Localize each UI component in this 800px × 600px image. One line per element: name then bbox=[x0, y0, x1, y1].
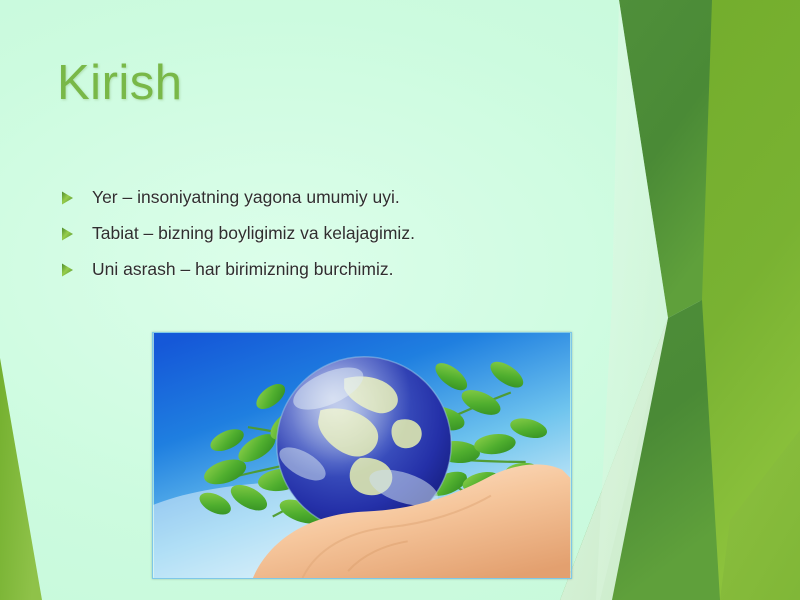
hand-holding-earth-with-leaves-image bbox=[152, 332, 572, 579]
shape-left-bottom-wedge bbox=[0, 358, 42, 600]
presentation-slide: Kirish Yer – insoniyatning yagona umumiy… bbox=[0, 0, 800, 600]
list-item-label: Tabiat – bizning boyligimiz va kelajagim… bbox=[92, 222, 415, 245]
triangle-bullet-icon bbox=[60, 190, 76, 206]
triangle-bullet-icon bbox=[60, 226, 76, 242]
earth-illustration bbox=[153, 333, 571, 578]
triangle-bullet-icon bbox=[60, 262, 76, 278]
list-item-label: Yer – insoniyatning yagona umumiy uyi. bbox=[92, 186, 400, 209]
bullet-list: Yer – insoniyatning yagona umumiy uyi. T… bbox=[60, 186, 530, 294]
list-item: Uni asrash – har birimizning burchimiz. bbox=[60, 258, 530, 281]
page-title: Kirish bbox=[57, 55, 183, 111]
list-item: Tabiat – bizning boyligimiz va kelajagim… bbox=[60, 222, 530, 245]
list-item: Yer – insoniyatning yagona umumiy uyi. bbox=[60, 186, 530, 209]
list-item-label: Uni asrash – har birimizning burchimiz. bbox=[92, 258, 394, 281]
